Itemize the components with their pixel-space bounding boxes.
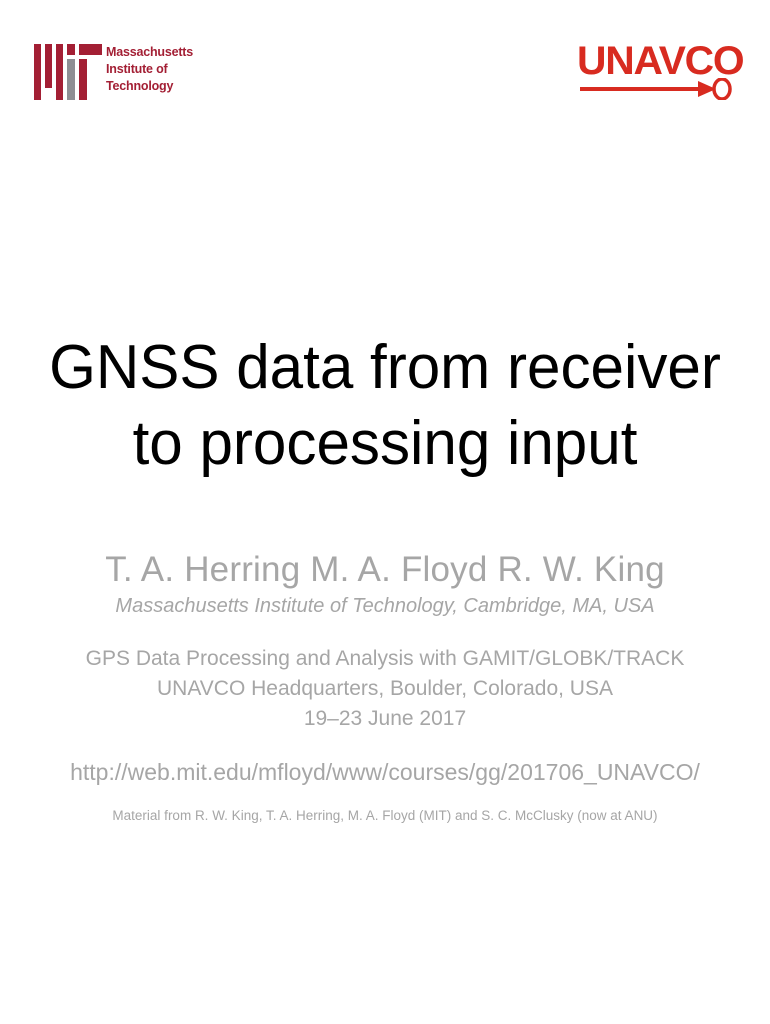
unavco-wordmark: UNAVCO xyxy=(577,40,728,82)
mit-logo: Massachusetts Institute of Technology xyxy=(34,42,194,104)
course-url[interactable]: http://web.mit.edu/mfloyd/www/courses/gg… xyxy=(0,756,770,788)
mit-wordmark-line-3: Technology xyxy=(106,78,193,95)
unavco-key-icon xyxy=(580,78,740,100)
mit-wordmark-line-2: Institute of xyxy=(106,61,193,78)
mit-bar-t-stem xyxy=(79,59,87,100)
spacer-after-affiliation xyxy=(0,620,770,644)
course-title-line: GPS Data Processing and Analysis with GA… xyxy=(0,644,770,674)
unavco-logo: UNAVCO xyxy=(577,40,742,106)
title-line-1: GNSS data from receiver xyxy=(12,330,759,406)
spacer-after-url xyxy=(0,788,770,806)
subtitle-block: T. A. Herring M. A. Floyd R. W. King Mas… xyxy=(0,548,770,826)
event-dates-line: 19–23 June 2017 xyxy=(0,704,770,734)
mit-logo-mark xyxy=(34,42,88,100)
mit-bar-3 xyxy=(56,44,63,100)
page-title: GNSS data from receiver to processing in… xyxy=(0,330,770,482)
title-line-2: to processing input xyxy=(12,406,759,482)
credits-line: Material from R. W. King, T. A. Herring,… xyxy=(0,806,770,826)
authors-line: T. A. Herring M. A. Floyd R. W. King xyxy=(0,548,770,592)
mit-bar-2 xyxy=(45,44,52,88)
spacer-after-dates xyxy=(0,734,770,756)
slide-canvas: Massachusetts Institute of Technology UN… xyxy=(0,0,770,1024)
venue-location-line: UNAVCO Headquarters, Boulder, Colorado, … xyxy=(0,674,770,704)
mit-bar-t-top xyxy=(79,44,102,55)
mit-bar-1 xyxy=(34,44,41,100)
mit-bar-i-top xyxy=(67,44,75,55)
mit-wordmark-line-1: Massachusetts xyxy=(106,44,193,61)
mit-bar-gray xyxy=(67,59,75,100)
affiliation-line: Massachusetts Institute of Technology, C… xyxy=(0,592,770,620)
mit-wordmark: Massachusetts Institute of Technology xyxy=(106,42,193,95)
